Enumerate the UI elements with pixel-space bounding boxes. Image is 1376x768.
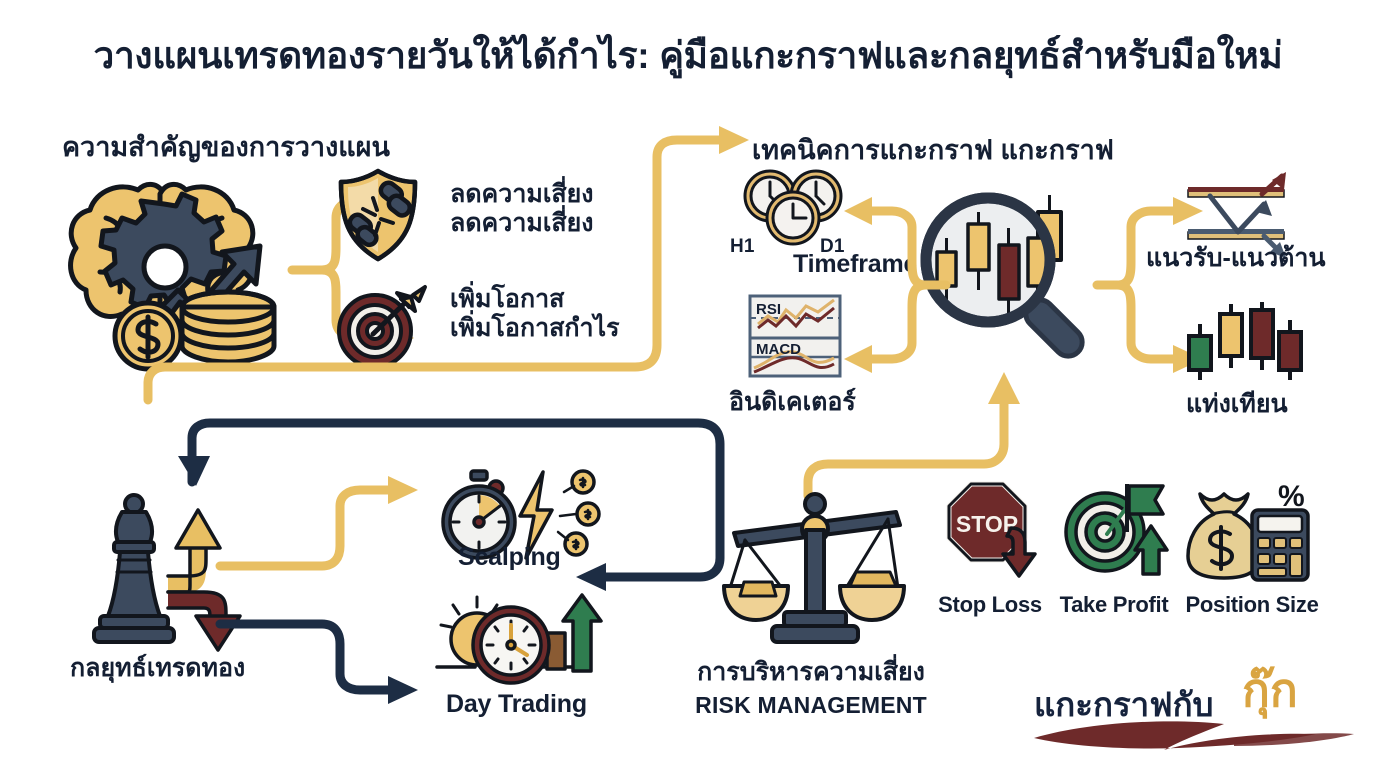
position-size-label: Position Size — [1185, 592, 1318, 618]
risk-to-chart-connector — [800, 370, 1030, 500]
day-trading-label: Day Trading — [446, 690, 587, 719]
brand-logo[interactable]: แกะกราฟกับ กุ๊ก — [1028, 660, 1358, 750]
indicator-rsi-text: RSI — [756, 301, 781, 318]
target-flag-up-arrow-icon — [1063, 482, 1173, 582]
take-profit-label: Take Profit — [1060, 592, 1169, 618]
chart-reading-heading: เทคนิคการแกะกราฟ แกะกราฟ — [752, 128, 1114, 171]
timeframe-h1-label: H1 — [730, 236, 755, 258]
page-title: วางแผนเทรดทองรายวันให้ได้กำไร: คู่มือแกะ… — [0, 26, 1376, 85]
stop-sign-down-arrow-icon: STOP — [945, 482, 1045, 582]
risk-management-thai-label: การบริหารความเสี่ยง — [697, 658, 925, 687]
infographic-canvas: วางแผนเทรดทองรายวันให้ได้กำไร: คู่มือแกะ… — [0, 0, 1376, 768]
support-resistance-label: แนวรับ-แนวต้าน — [1146, 244, 1325, 273]
strategy-to-scalping-connector — [218, 478, 433, 583]
scalping-label: Scalping — [458, 543, 561, 572]
indicator-panel-icon: RSI MACD — [748, 294, 842, 378]
balance-scale-gold-icon — [720, 492, 910, 647]
money-bag-calculator-percent-icon: % — [1186, 478, 1311, 583]
logo-brush-stroke-icon — [1028, 712, 1358, 756]
indicator-macd-text: MACD — [756, 341, 801, 358]
candlestick-icon — [1182, 300, 1302, 390]
candlestick-label: แท่งเทียน — [1186, 390, 1288, 419]
strategy-to-daytrading-connector — [218, 612, 433, 717]
sunrise-clock-chart-icon — [435, 593, 605, 693]
percent-text: % — [1278, 480, 1305, 513]
chart-left-bracket-connector — [840, 195, 950, 375]
planning-to-chart-connector — [145, 135, 755, 405]
stop-loss-label: Stop Loss — [938, 592, 1042, 618]
risk-management-en-label: RISK MANAGEMENT — [695, 692, 927, 719]
